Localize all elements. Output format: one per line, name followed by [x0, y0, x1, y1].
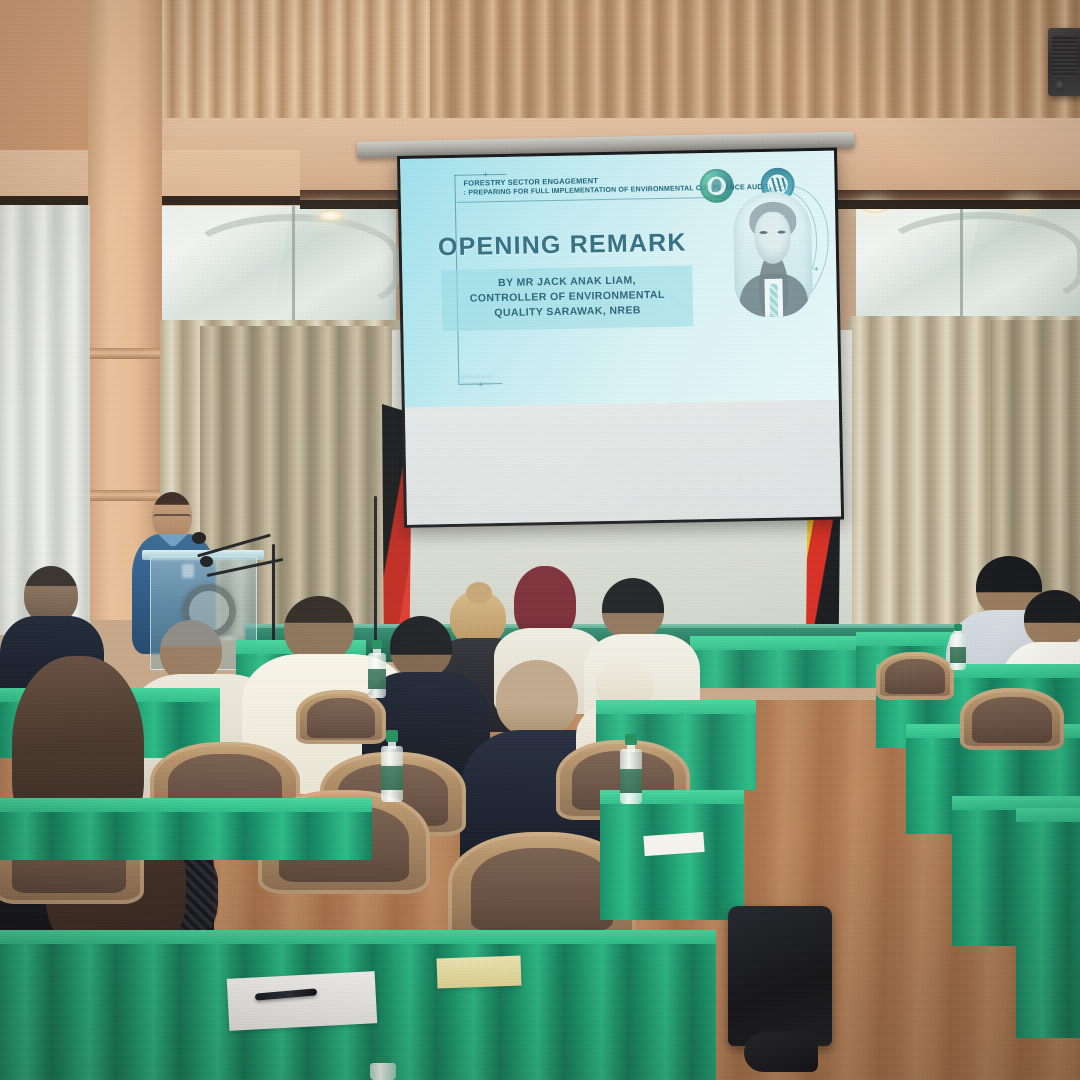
mineral-water-bottle-5[interactable] — [370, 1058, 396, 1080]
slide-byline-panel: BY MR JACK ANAK LIAM, CONTROLLER OF ENVI… — [441, 265, 693, 331]
hair-bun — [466, 582, 492, 604]
slide-bracket-horizontal — [455, 174, 507, 176]
chair-far-right[interactable] — [876, 652, 954, 700]
nreb-logo-icon — [700, 169, 735, 204]
portrait-eye-right — [778, 230, 786, 233]
speaker-portrait-image — [733, 191, 813, 317]
head — [1024, 590, 1080, 648]
mineral-water-bottle-3[interactable] — [620, 734, 642, 804]
head — [390, 616, 452, 678]
fluted-wood-panel-right — [430, 0, 1080, 120]
slide-footnote-text: (blurred text) (blurred text) — [461, 371, 657, 390]
glass-mullion-left — [292, 206, 295, 326]
portrait-eye-left — [759, 230, 767, 233]
presentation-slide: + + + + FORESTRY SECTOR ENGAGEMENT : PRE… — [400, 151, 839, 408]
table-row-2 — [0, 798, 372, 860]
presenter-glasses — [153, 514, 191, 522]
screen-surface: + + + + FORESTRY SECTOR ENGAGEMENT : PRE… — [400, 151, 841, 525]
conference-hall-photo: + + + + FORESTRY SECTOR ENGAGEMENT : PRE… — [0, 0, 1080, 1080]
screen-blank-area — [405, 399, 841, 524]
slide-header-block: FORESTRY SECTOR ENGAGEMENT : PREPARING F… — [463, 172, 802, 197]
microphone-head-2 — [200, 556, 213, 567]
backpack-on-floor[interactable] — [728, 906, 832, 1046]
ceiling-downlight-1 — [318, 210, 344, 221]
yellow-notepad[interactable] — [437, 956, 522, 989]
mineral-water-bottle-4[interactable] — [950, 624, 966, 670]
ceiling-reflection-right — [880, 212, 1080, 312]
head — [602, 578, 664, 640]
projection-screen: + + + + FORESTRY SECTOR ENGAGEMENT : PRE… — [397, 148, 844, 528]
glass-mullion-right — [960, 206, 963, 316]
head — [496, 660, 578, 738]
portrait-face — [754, 211, 791, 264]
head — [160, 620, 222, 682]
head — [284, 596, 354, 662]
chair-right-block-2[interactable] — [296, 690, 386, 744]
table-right-column-4 — [1016, 808, 1080, 1038]
chair-right-block-1[interactable] — [960, 688, 1064, 750]
sheet-of-paper[interactable] — [227, 971, 378, 1031]
table-row-1b — [600, 790, 744, 920]
room-pillar — [88, 0, 162, 620]
mineral-water-bottle-1[interactable] — [368, 640, 386, 698]
mineral-water-bottle-2[interactable] — [381, 730, 403, 802]
sheet-of-paper-secondary[interactable] — [643, 832, 704, 856]
wall-speaker-right — [1048, 28, 1080, 96]
shoe-on-floor — [744, 1032, 818, 1072]
portrait-tie — [770, 284, 778, 317]
microphone-head-1 — [192, 532, 206, 544]
slide-title-text: OPENING REMARK — [432, 228, 693, 262]
